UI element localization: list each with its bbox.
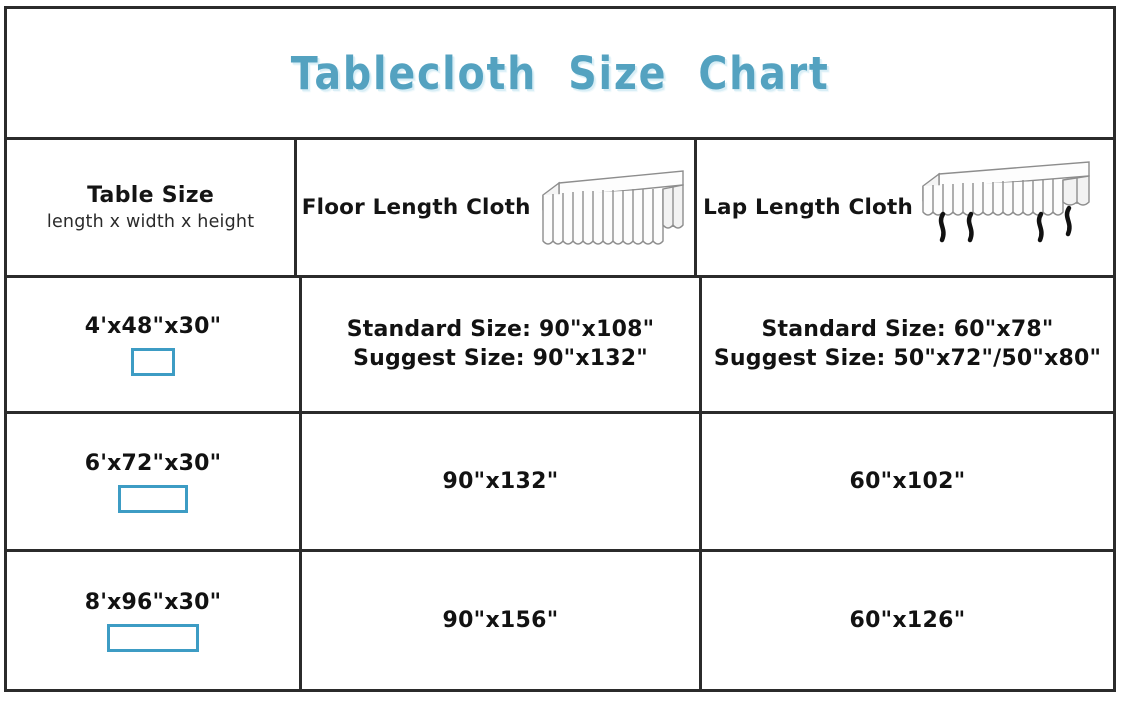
floor-size-value: 90"x156": [442, 608, 558, 633]
table-row: 8'x96"x30" 90"x156" 60"x126": [7, 552, 1113, 689]
cell-lap-length: Standard Size: 60"x78" Suggest Size: 50"…: [702, 278, 1113, 411]
lap-size-value: 60"x102": [849, 469, 965, 494]
table-size-value: 4'x48"x30": [85, 314, 222, 339]
cell-lap-length: 60"x126": [702, 552, 1113, 689]
title-row: Tablecloth Size Chart: [7, 9, 1113, 140]
page-title: Tablecloth Size Chart: [291, 47, 830, 100]
table-header-row: Table Size length x width x height Floor…: [7, 140, 1113, 278]
lap-standard-size: Standard Size: 60"x78": [714, 316, 1101, 345]
header-table-size-title: Table Size: [47, 183, 254, 209]
header-cell-table-size: Table Size length x width x height: [7, 140, 297, 275]
table-size-value: 6'x72"x30": [85, 451, 222, 476]
header-lap-length-label: Lap Length Cloth: [703, 195, 913, 220]
lap-length-tablecloth-illustration: [917, 158, 1107, 258]
floor-standard-size: Standard Size: 90"x108": [347, 316, 655, 345]
header-cell-lap-length: Lap Length Cloth: [697, 140, 1113, 275]
header-table-size-subtitle: length x width x height: [47, 212, 254, 233]
lap-size-value: 60"x126": [849, 608, 965, 633]
table-row: 6'x72"x30" 90"x132" 60"x102": [7, 414, 1113, 552]
cell-table-size: 4'x48"x30": [7, 278, 302, 411]
table-row: 4'x48"x30" Standard Size: 90"x108" Sugge…: [7, 278, 1113, 414]
small-rectangle-swatch: [131, 348, 175, 376]
floor-length-tablecloth-illustration: [535, 163, 690, 253]
medium-rectangle-swatch: [118, 485, 188, 513]
floor-suggest-size: Suggest Size: 90"x132": [347, 345, 655, 374]
header-floor-length-label: Floor Length Cloth: [302, 195, 531, 220]
cell-lap-length: 60"x102": [702, 414, 1113, 549]
cell-floor-length: Standard Size: 90"x108" Suggest Size: 90…: [302, 278, 702, 411]
cell-floor-length: 90"x132": [302, 414, 702, 549]
large-rectangle-swatch: [107, 624, 199, 652]
cell-floor-length: 90"x156": [302, 552, 702, 689]
header-cell-floor-length: Floor Length Cloth: [297, 140, 697, 275]
cell-table-size: 6'x72"x30": [7, 414, 302, 549]
cell-table-size: 8'x96"x30": [7, 552, 302, 689]
lap-suggest-size: Suggest Size: 50"x72"/50"x80": [714, 345, 1101, 374]
table-size-value: 8'x96"x30": [85, 590, 222, 615]
tablecloth-size-chart: Tablecloth Size Chart Table Size length …: [4, 6, 1116, 692]
floor-size-value: 90"x132": [442, 469, 558, 494]
